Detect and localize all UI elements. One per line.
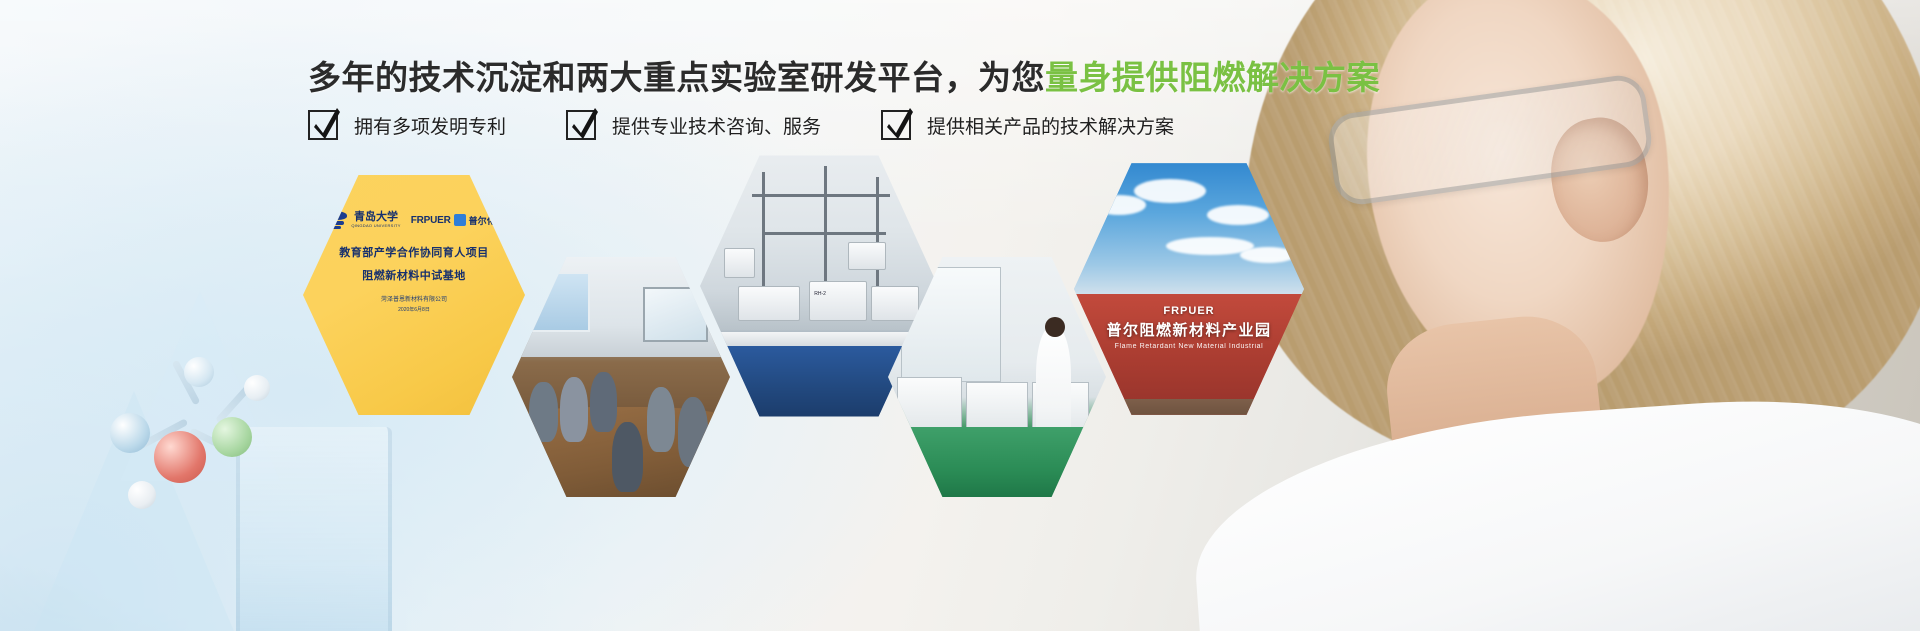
hexagon-tile-certificate-plaque[interactable]: 青岛大学 QINGDAO UNIVERSITY FRPUER 普尔化工 教育部产… (303, 170, 525, 420)
technician-head-shape (1045, 317, 1065, 337)
check-icon (881, 110, 911, 140)
plaque-logos: 青岛大学 QINGDAO UNIVERSITY FRPUER 普尔化工 (323, 210, 504, 230)
hexagon-tile-industrial-park[interactable]: FRPUER 普尔阻燃新材料产业园 Flame Retardant New Ma… (1074, 158, 1304, 420)
plaque-line-2: 阻燃新材料中试基地 (362, 267, 466, 283)
cabinet-shape (897, 377, 962, 432)
check-icon (308, 110, 338, 140)
plaque-line-4: 2020年6月8日 (398, 306, 430, 313)
bench-top-shape (700, 332, 938, 346)
plaque-content: 青岛大学 QINGDAO UNIVERSITY FRPUER 普尔化工 教育部产… (303, 170, 525, 420)
meeting-room-photo (512, 252, 730, 502)
company-logo-mark-icon (454, 214, 466, 226)
technician-body-shape (1036, 327, 1071, 442)
floor-shape (888, 427, 1106, 502)
feature-bullet-2: 提供专业技术咨询、服务 (566, 110, 821, 140)
qingdao-university-logo: 青岛大学 QINGDAO UNIVERSITY (323, 210, 400, 230)
university-emblem-icon (323, 210, 347, 230)
window-shape (525, 272, 590, 332)
banner-headline: 多年的技术沉淀和两大重点实验室研发平台，为您量身提供阻燃解决方案 (308, 58, 1380, 98)
feature-bullet-3-label: 提供相关产品的技术解决方案 (927, 112, 1174, 139)
plaque-line-1: 教育部产学合作协同育人项目 (339, 244, 489, 260)
hexagon-gallery: 青岛大学 QINGDAO UNIVERSITY FRPUER 普尔化工 教育部产… (0, 160, 1920, 520)
company-logo-text: FRPUER (411, 215, 451, 226)
company-logo: FRPUER 普尔化工 (411, 214, 505, 227)
feature-bullet-1: 拥有多项发明专利 (308, 110, 506, 140)
industrial-park-photo: FRPUER 普尔阻燃新材料产业园 Flame Retardant New Ma… (1074, 158, 1304, 420)
headline-dark-text: 多年的技术沉淀和两大重点实验室研发平台，为您 (308, 59, 1045, 96)
feature-bullet-3: 提供相关产品的技术解决方案 (881, 110, 1174, 140)
ground-shape (1074, 399, 1304, 420)
company-name-cn: 普尔化工 (469, 214, 505, 227)
plaque-line-3: 菏泽普恩新材料有限公司 (381, 294, 447, 303)
feature-bullet-1-label: 拥有多项发明专利 (354, 112, 506, 139)
sign-brand: FRPUER (1074, 305, 1304, 317)
headline-green-text: 量身提供阻燃解决方案 (1045, 59, 1380, 96)
feature-bullet-2-label: 提供专业技术咨询、服务 (612, 112, 821, 139)
sign-name-cn: 普尔阻燃新材料产业园 (1074, 319, 1304, 340)
park-sign-text: FRPUER 普尔阻燃新材料产业园 Flame Retardant New Ma… (1074, 305, 1304, 350)
device-label: RH-2 (814, 291, 826, 297)
check-icon (566, 110, 596, 140)
plaque-background: 青岛大学 QINGDAO UNIVERSITY FRPUER 普尔化工 教育部产… (303, 170, 525, 420)
presentation-screen-shape (643, 287, 708, 342)
cabinet-shape (966, 382, 1027, 432)
hexagon-tile-meeting-room[interactable] (512, 252, 730, 502)
university-name-cn: 青岛大学 (351, 212, 400, 223)
promo-banner: 多年的技术沉淀和两大重点实验室研发平台，为您量身提供阻燃解决方案 拥有多项发明专… (0, 0, 1920, 631)
sky-shape (1074, 158, 1304, 294)
feature-bullet-list: 拥有多项发明专利 提供专业技术咨询、服务 提供相关产品的技术解决方案 (308, 110, 1174, 140)
university-name-en: QINGDAO UNIVERSITY (351, 223, 400, 228)
sign-name-en: Flame Retardant New Material Industrial (1074, 343, 1304, 350)
